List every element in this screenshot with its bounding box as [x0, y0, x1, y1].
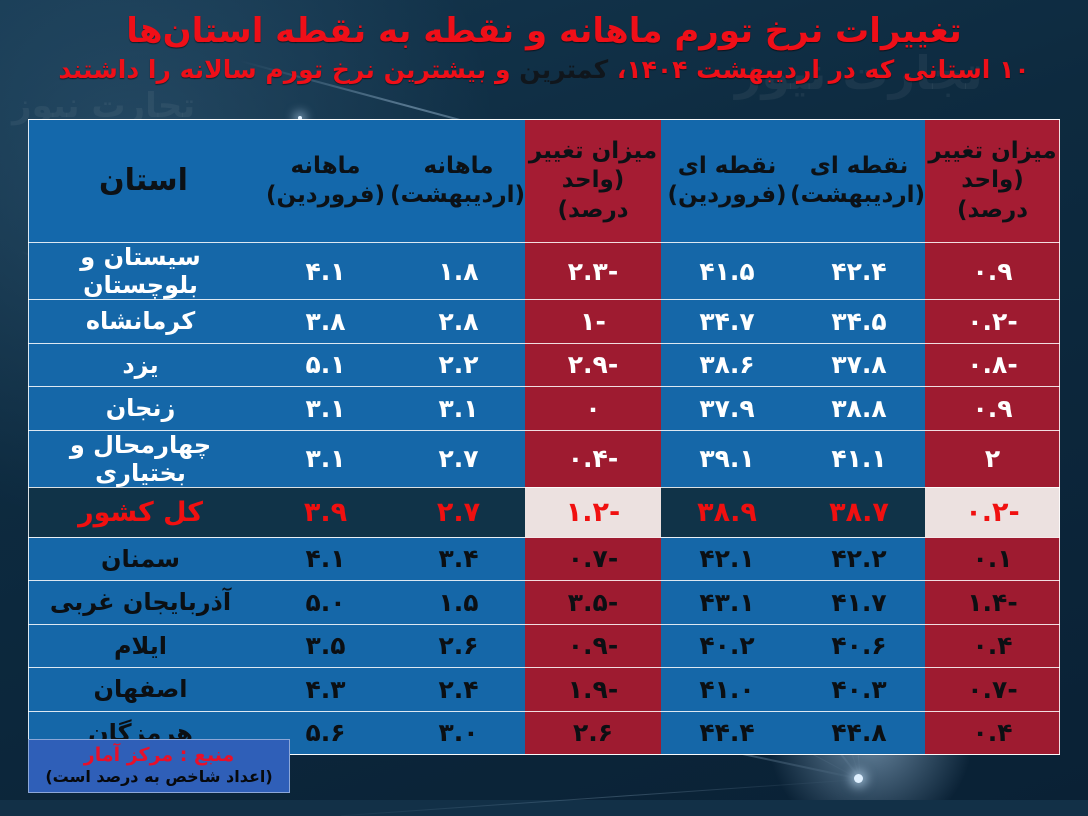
table-row: ۰.۹۴۲.۴۴۱.۵-۲.۳۱.۸۴.۱سیستان و بلوچستان	[28, 243, 1060, 300]
col-header-line1: ماهانه	[259, 152, 392, 181]
cell-ptp-ordibehesht: ۴۰.۳	[793, 668, 925, 712]
cell-ptp-ordibehesht: ۳۸.۷	[793, 487, 925, 537]
cell-ptp-change: -۰.۲	[925, 300, 1060, 344]
cell-monthly-farvardin: ۵.۱	[259, 343, 392, 387]
cell-ptp-ordibehesht: ۴۲.۲	[793, 537, 925, 581]
source-label: منبع : مرکز آمار	[84, 745, 235, 766]
col-header-line2: (اردیبهشت)	[392, 181, 525, 210]
col-header-line1: ماهانه	[392, 152, 525, 181]
col-header-line1: میزان تغییر	[525, 137, 661, 166]
cell-ptp-change: -۰.۸	[925, 343, 1060, 387]
cell-ptp-ordibehesht: ۴۰.۶	[793, 624, 925, 668]
table-row: ۰.۱۴۲.۲۴۲.۱-۰.۷۳.۴۴.۱سمنان	[28, 537, 1060, 581]
cell-ptp-farvardin: ۴۳.۱	[661, 581, 793, 625]
cell-province: اصفهان	[28, 668, 259, 712]
cell-monthly-ordibehesht: ۲.۸	[392, 300, 525, 344]
col-header-line2: (فروردین)	[259, 181, 392, 210]
cell-monthly-farvardin: ۳.۱	[259, 430, 392, 487]
cell-monthly-ordibehesht: ۲.۷	[392, 430, 525, 487]
source-note: (اعداد شاخص به درصد است)	[45, 767, 272, 786]
cell-ptp-change: ۰.۱	[925, 537, 1060, 581]
cell-ptp-change: ۲	[925, 430, 1060, 487]
cell-ptp-ordibehesht: ۳۷.۸	[793, 343, 925, 387]
cell-monthly-change: ۲.۶	[525, 711, 661, 755]
table-row: -۱.۴۴۱.۷۴۳.۱-۳.۵۱.۵۵.۰آذربایجان غربی	[28, 581, 1060, 625]
cell-province: سمنان	[28, 537, 259, 581]
cell-ptp-ordibehesht: ۴۱.۷	[793, 581, 925, 625]
subtitle-segment-highest: و بیشترین	[384, 55, 511, 84]
col-header-province: استان	[28, 120, 259, 243]
cell-monthly-ordibehesht: ۱.۵	[392, 581, 525, 625]
cell-ptp-change: ۰.۹	[925, 243, 1060, 300]
cell-monthly-farvardin: ۳.۹	[259, 487, 392, 537]
cell-province: کل کشور	[28, 487, 259, 537]
col-header-line1: نقطه ای	[793, 152, 925, 181]
cell-monthly-change: -۰.۹	[525, 624, 661, 668]
table-row: ۰.۴۴۰.۶۴۰.۲-۰.۹۲.۶۳.۵ایلام	[28, 624, 1060, 668]
col-header-line1: میزان تغییر	[925, 137, 1060, 166]
cell-province: کرمانشاه	[28, 300, 259, 344]
col-header-line2: (فروردین)	[661, 181, 793, 210]
cell-monthly-ordibehesht: ۲.۴	[392, 668, 525, 712]
cell-monthly-ordibehesht: ۳.۴	[392, 537, 525, 581]
cell-ptp-ordibehesht: ۴۲.۴	[793, 243, 925, 300]
col-header-monthly-farvardin: ماهانه (فروردین)	[259, 120, 392, 243]
cell-monthly-farvardin: ۴.۱	[259, 537, 392, 581]
cell-monthly-change: ۰	[525, 387, 661, 431]
col-header-line1: استان	[28, 162, 259, 200]
cell-monthly-change: -۰.۷	[525, 537, 661, 581]
cell-monthly-ordibehesht: ۳.۰	[392, 711, 525, 755]
source-box: منبع : مرکز آمار (اعداد شاخص به درصد است…	[28, 739, 290, 793]
col-header-line2: (اردیبهشت)	[793, 181, 925, 210]
col-header-monthly-change: میزان تغییر (واحد درصد)	[525, 120, 661, 243]
cell-monthly-change: -۲.۹	[525, 343, 661, 387]
cell-province: زنجان	[28, 387, 259, 431]
table-row: -۰.۸۳۷.۸۳۸.۶-۲.۹۲.۲۵.۱یزد	[28, 343, 1060, 387]
cell-province: یزد	[28, 343, 259, 387]
subtitle-segment-tail: نرخ تورم سالانه را داشتند	[58, 55, 374, 84]
table-row: ۰.۹۳۸.۸۳۷.۹۰۳.۱۳.۱زنجان	[28, 387, 1060, 431]
cell-monthly-farvardin: ۴.۱	[259, 243, 392, 300]
col-header-ptp-farvardin: نقطه ای (فروردین)	[661, 120, 793, 243]
cell-ptp-farvardin: ۳۴.۷	[661, 300, 793, 344]
cell-ptp-farvardin: ۴۱.۰	[661, 668, 793, 712]
cell-monthly-ordibehesht: ۲.۷	[392, 487, 525, 537]
subtitle-segment-1: ۱۰ استانی که در اردیبهشت ۱۴۰۴،	[617, 55, 1030, 84]
col-header-line1: نقطه ای	[661, 152, 793, 181]
cell-monthly-farvardin: ۳.۸	[259, 300, 392, 344]
cell-monthly-change: -۰.۴	[525, 430, 661, 487]
col-header-ptp-ordibehesht: نقطه ای (اردیبهشت)	[793, 120, 925, 243]
table-row: -۰.۲۳۴.۵۳۴.۷-۱۲.۸۳.۸کرمانشاه	[28, 300, 1060, 344]
table-row: ۲۴۱.۱۳۹.۱-۰.۴۲.۷۳.۱چهارمحال و بختیاری	[28, 430, 1060, 487]
cell-ptp-farvardin: ۴۱.۵	[661, 243, 793, 300]
cell-monthly-change: -۱	[525, 300, 661, 344]
cell-monthly-change: -۱.۲	[525, 487, 661, 537]
cell-ptp-ordibehesht: ۳۸.۸	[793, 387, 925, 431]
cell-monthly-change: -۲.۳	[525, 243, 661, 300]
cell-monthly-farvardin: ۵.۰	[259, 581, 392, 625]
table-row: -۰.۷۴۰.۳۴۱.۰-۱.۹۲.۴۴.۳اصفهان	[28, 668, 1060, 712]
cell-ptp-farvardin: ۴۲.۱	[661, 537, 793, 581]
cell-ptp-change: ۰.۴	[925, 711, 1060, 755]
cell-ptp-farvardin: ۳۸.۹	[661, 487, 793, 537]
col-header-line2: (واحد درصد)	[925, 166, 1060, 225]
cell-ptp-change: ۰.۹	[925, 387, 1060, 431]
subtitle-segment-lowest: کمترین	[519, 55, 608, 84]
cell-monthly-change: -۳.۵	[525, 581, 661, 625]
inflation-table: میزان تغییر (واحد درصد) نقطه ای (اردیبهش…	[28, 119, 1060, 755]
table-header-row: میزان تغییر (واحد درصد) نقطه ای (اردیبهش…	[28, 120, 1060, 243]
cell-monthly-farvardin: ۳.۱	[259, 387, 392, 431]
col-header-line2: (واحد درصد)	[525, 166, 661, 225]
col-header-ptp-change: میزان تغییر (واحد درصد)	[925, 120, 1060, 243]
cell-monthly-change: -۱.۹	[525, 668, 661, 712]
cell-monthly-ordibehesht: ۲.۶	[392, 624, 525, 668]
cell-ptp-farvardin: ۳۹.۱	[661, 430, 793, 487]
infographic-header: تغییرات نرخ تورم ماهانه و نقطه به نقطه ا…	[0, 0, 1088, 85]
inflation-table-wrapper: میزان تغییر (واحد درصد) نقطه ای (اردیبهش…	[28, 119, 1060, 755]
cell-province: ایلام	[28, 624, 259, 668]
cell-monthly-farvardin: ۴.۳	[259, 668, 392, 712]
table-row: -۰.۲۳۸.۷۳۸.۹-۱.۲۲.۷۳.۹کل کشور	[28, 487, 1060, 537]
cell-ptp-farvardin: ۴۴.۴	[661, 711, 793, 755]
cell-province: چهارمحال و بختیاری	[28, 430, 259, 487]
cell-ptp-farvardin: ۳۸.۶	[661, 343, 793, 387]
cell-province: آذربایجان غربی	[28, 581, 259, 625]
cell-ptp-ordibehesht: ۳۴.۵	[793, 300, 925, 344]
cell-ptp-change: -۰.۲	[925, 487, 1060, 537]
page-title: تغییرات نرخ تورم ماهانه و نقطه به نقطه ا…	[0, 12, 1088, 50]
table-body: ۰.۹۴۲.۴۴۱.۵-۲.۳۱.۸۴.۱سیستان و بلوچستان-۰…	[28, 243, 1060, 755]
cell-ptp-farvardin: ۳۷.۹	[661, 387, 793, 431]
cell-ptp-ordibehesht: ۴۱.۱	[793, 430, 925, 487]
cell-ptp-farvardin: ۴۰.۲	[661, 624, 793, 668]
page-subtitle: ۱۰ استانی که در اردیبهشت ۱۴۰۴، کمترین و …	[0, 56, 1088, 85]
cell-province: سیستان و بلوچستان	[28, 243, 259, 300]
cell-ptp-ordibehesht: ۴۴.۸	[793, 711, 925, 755]
cell-ptp-change: ۰.۴	[925, 624, 1060, 668]
cell-monthly-ordibehesht: ۳.۱	[392, 387, 525, 431]
cell-monthly-ordibehesht: ۱.۸	[392, 243, 525, 300]
cell-monthly-ordibehesht: ۲.۲	[392, 343, 525, 387]
col-header-monthly-ordibehesht: ماهانه (اردیبهشت)	[392, 120, 525, 243]
cell-ptp-change: -۰.۷	[925, 668, 1060, 712]
cell-ptp-change: -۱.۴	[925, 581, 1060, 625]
cell-monthly-farvardin: ۳.۵	[259, 624, 392, 668]
